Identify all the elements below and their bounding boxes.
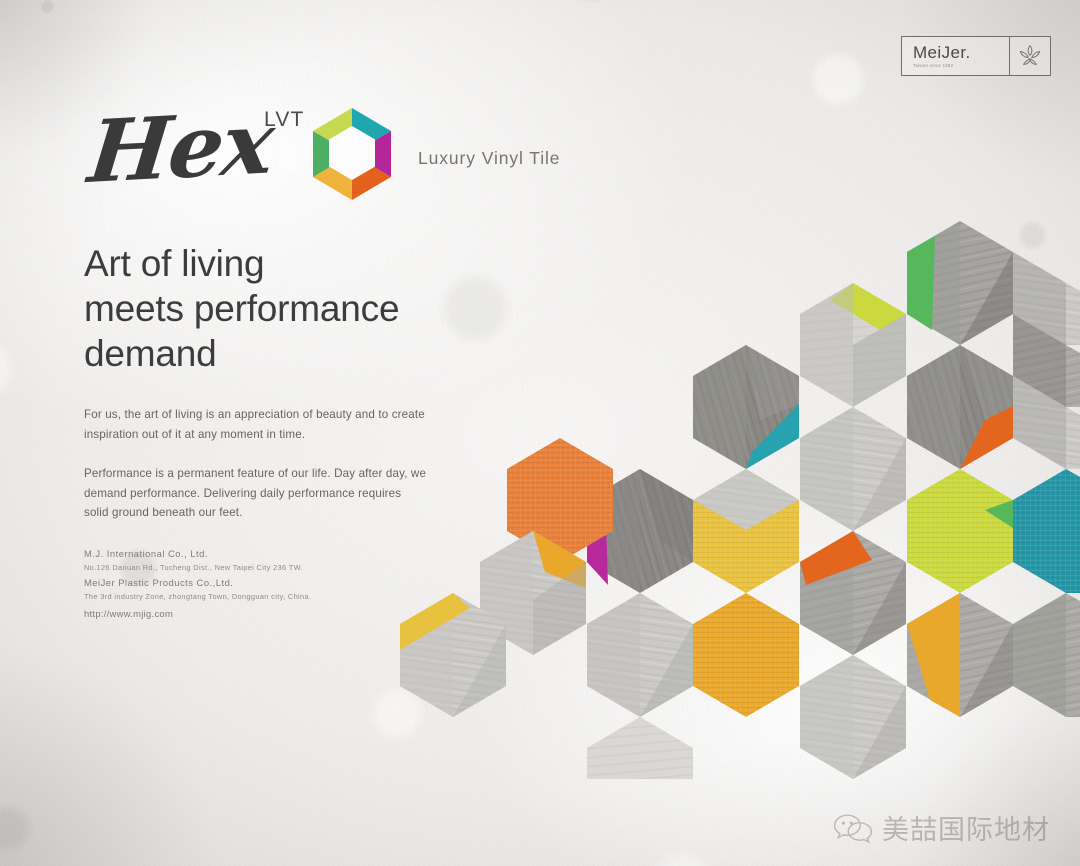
body-paragraph-2: Performance is a permanent feature of ou… bbox=[84, 464, 429, 523]
brand-superscript: LVT bbox=[264, 108, 305, 132]
hexagon-ring-logo bbox=[306, 104, 398, 209]
company-address-1: No.126 Danuan Rd., Tucheng Dist., New Ta… bbox=[84, 561, 404, 575]
company-address-2: The 3rd industry Zone, zhongtang Town, D… bbox=[84, 590, 404, 604]
headline-line-1: Art of living bbox=[84, 241, 504, 286]
body-copy: For us, the art of living is an apprecia… bbox=[84, 405, 429, 543]
wechat-footer: 美喆国际地材 bbox=[833, 812, 1050, 849]
company-name-2: MeiJer Plastic Products Co.,Ltd. bbox=[84, 575, 404, 590]
brand-lockup: Hex LVT bbox=[84, 96, 644, 206]
wechat-label: 美喆国际地材 bbox=[882, 817, 1050, 844]
brand-name: Hex bbox=[84, 93, 277, 203]
wechat-icon bbox=[833, 812, 873, 849]
company-website[interactable]: http://www.mjig.com bbox=[84, 606, 404, 622]
body-paragraph-1: For us, the art of living is an apprecia… bbox=[84, 405, 429, 444]
meijer-wordmark: MeiJer. bbox=[913, 44, 999, 61]
poster-page: MeiJer. Taiwan since 1982 Hex LVT bbox=[0, 0, 1080, 866]
meijer-text-block: MeiJer. Taiwan since 1982 bbox=[902, 37, 1009, 75]
headline-line-2: meets performance bbox=[84, 286, 504, 331]
meijer-corner-logo: MeiJer. Taiwan since 1982 bbox=[901, 36, 1051, 76]
headline-line-3: demand bbox=[84, 331, 504, 376]
cherry-blossom-icon bbox=[1009, 37, 1050, 75]
page-headline: Art of living meets performance demand bbox=[84, 241, 504, 376]
contact-block: M.J. International Co., Ltd. No.126 Danu… bbox=[84, 546, 404, 622]
meijer-tagline: Taiwan since 1982 bbox=[913, 64, 999, 68]
company-name-1: M.J. International Co., Ltd. bbox=[84, 546, 404, 561]
brand-tagline: Luxury Vinyl Tile bbox=[418, 148, 560, 169]
